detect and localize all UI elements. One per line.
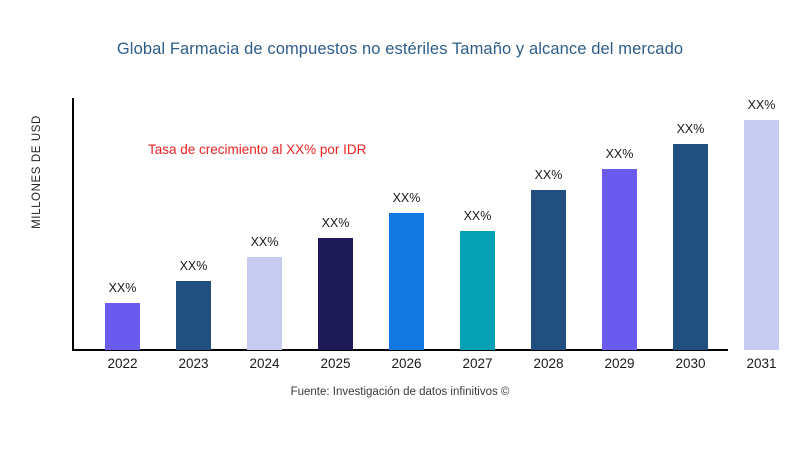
bar-value-label-2029: XX%	[585, 147, 655, 161]
plot-area: XX%2022XX%2023XX%2024XX%2025XX%2026XX%20…	[0, 0, 800, 450]
source-note: Fuente: Investigación de datos infinitiv…	[0, 386, 800, 398]
x-tick-label-2028: 2028	[514, 356, 584, 371]
bar-value-label-2028: XX%	[514, 168, 584, 182]
x-tick-label-2029: 2029	[585, 356, 655, 371]
bar-2025	[318, 238, 353, 350]
bar-2023	[176, 281, 211, 350]
x-tick-label-2024: 2024	[230, 356, 300, 371]
x-tick-label-2025: 2025	[301, 356, 371, 371]
bar-value-label-2031: XX%	[727, 98, 797, 112]
growth-rate-annotation: Tasa de crecimiento al XX% por IDR	[148, 142, 366, 157]
bar-2031	[744, 120, 779, 350]
x-tick-label-2026: 2026	[372, 356, 442, 371]
bar-2030	[673, 144, 708, 350]
bar-2026	[389, 213, 424, 350]
bar-2028	[531, 190, 566, 350]
bar-value-label-2025: XX%	[301, 216, 371, 230]
bar-value-label-2027: XX%	[443, 209, 513, 223]
bar-value-label-2030: XX%	[656, 122, 726, 136]
bar-2029	[602, 169, 637, 350]
x-tick-label-2031: 2031	[727, 356, 797, 371]
x-tick-label-2030: 2030	[656, 356, 726, 371]
bar-chart: Global Farmacia de compuestos no estéril…	[0, 0, 800, 450]
bar-value-label-2023: XX%	[159, 259, 229, 273]
x-tick-label-2023: 2023	[159, 356, 229, 371]
bar-2022	[105, 303, 140, 350]
x-tick-label-2022: 2022	[88, 356, 158, 371]
bar-2024	[247, 257, 282, 350]
bar-value-label-2026: XX%	[372, 191, 442, 205]
bar-2027	[460, 231, 495, 350]
x-tick-label-2027: 2027	[443, 356, 513, 371]
bar-value-label-2022: XX%	[88, 281, 158, 295]
bar-value-label-2024: XX%	[230, 235, 300, 249]
